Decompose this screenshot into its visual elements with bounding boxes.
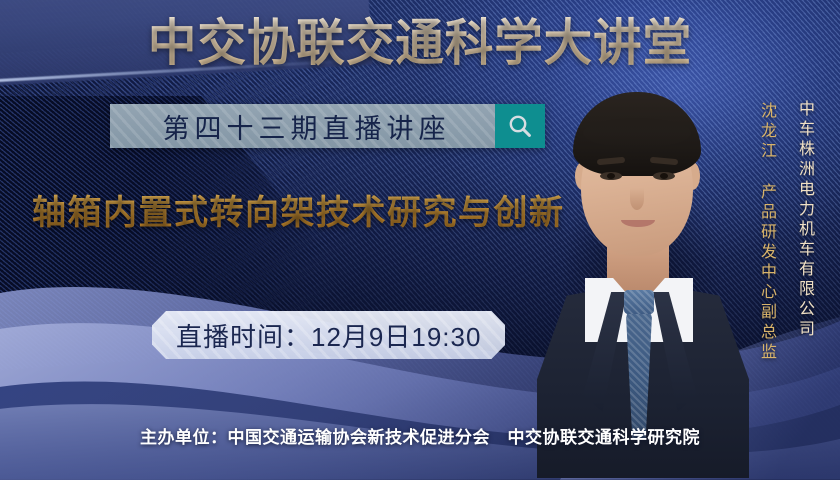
portrait-necktie-knot (624, 290, 654, 314)
broadcast-time-badge: 直播时间：12月9日19:30 (152, 311, 505, 359)
episode-banner-label: 第四十三期直播讲座 (110, 104, 495, 148)
portrait-eye-right (653, 172, 675, 180)
organizer-footer: 主办单位：中国交通运输协会新技术促进分会 中交协联交通科学研究院 (0, 423, 840, 448)
speaker-name-title: 沈龙江 产品研发中心副总监 (754, 102, 778, 363)
topic-title: 轴箱内置式转向架技术研究与创新 (32, 192, 565, 234)
live-stream-poster: 中交协联交通科学大讲堂 第四十三期直播讲座 轴箱内置式转向架技术研究与创新 直播… (0, 0, 840, 480)
search-icon[interactable] (495, 104, 545, 148)
episode-banner: 第四十三期直播讲座 (110, 104, 545, 148)
portrait-nose (630, 188, 644, 210)
page-title: 中交协联交通科学大讲堂 (13, 14, 828, 72)
portrait-eye-left (600, 172, 622, 180)
speaker-portrait (545, 92, 735, 480)
speaker-company: 中车株洲电力机车有限公司 (792, 100, 816, 340)
